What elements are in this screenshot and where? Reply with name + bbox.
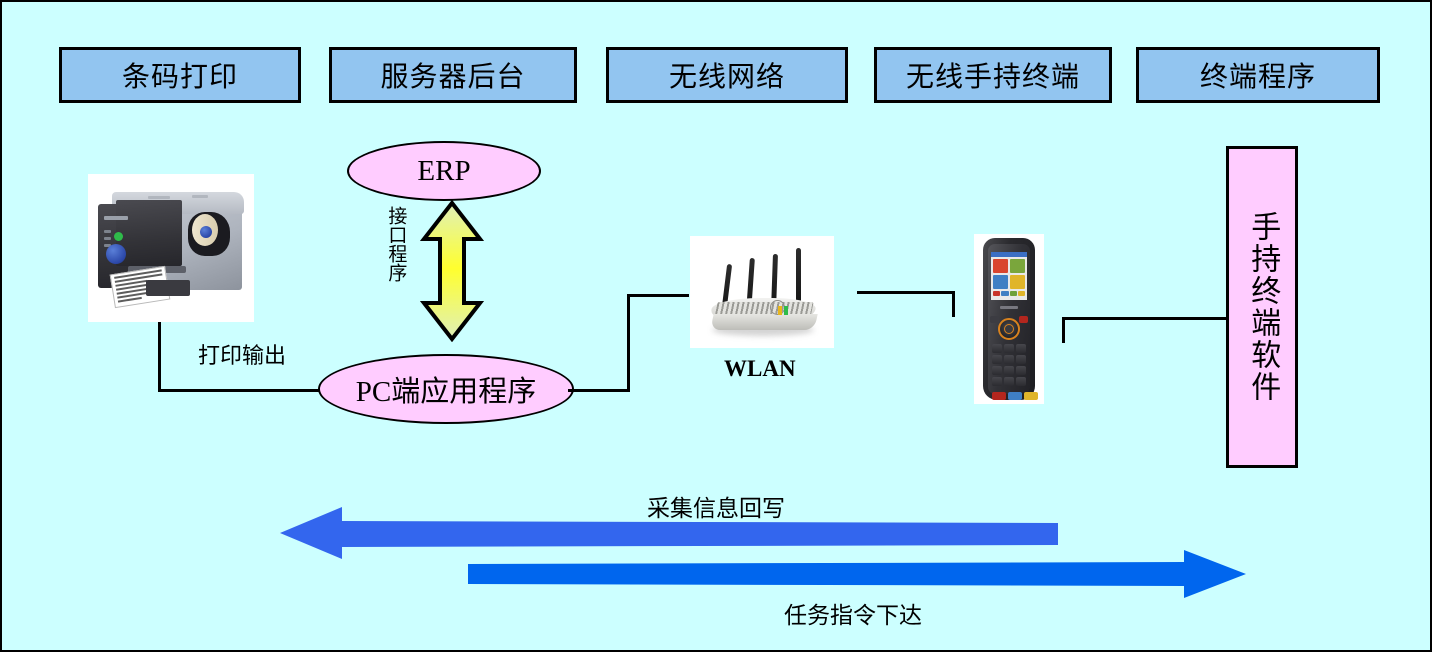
header-box-barcode-print: 条码打印 (59, 47, 301, 103)
connector-printer-vertical (158, 322, 161, 392)
print-output-label: 打印输出 (198, 338, 286, 370)
wlan-router-image (690, 236, 834, 348)
flow-label-task-dispatch: 任务指令下达 (784, 596, 922, 630)
connector-pda-right-riser (1062, 317, 1065, 343)
header-label: 终端程序 (1200, 55, 1316, 95)
header-box-server-backend: 服务器后台 (329, 47, 577, 103)
pc-application-label: PC端应用程序 (356, 368, 536, 410)
header-box-terminal-program: 终端程序 (1136, 47, 1380, 103)
header-label: 无线手持终端 (906, 55, 1080, 95)
pc-application-node[interactable]: PC端应用程序 (318, 354, 574, 424)
terminal-software-node[interactable]: 手持终端软件 (1226, 146, 1298, 468)
barcode-printer-image (88, 174, 254, 322)
connector-printer-horizontal (158, 389, 338, 392)
erp-label: ERP (417, 155, 470, 188)
interface-program-label: 接口程序 (384, 206, 406, 282)
interface-program-arrow-icon (420, 200, 484, 342)
diagram-canvas: 条码打印 服务器后台 无线网络 无线手持终端 终端程序 (0, 0, 1432, 652)
erp-node[interactable]: ERP (347, 141, 541, 201)
connector-router-left (627, 294, 689, 297)
connector-pcapp-vertical (627, 294, 630, 392)
flow-arrow-right-icon (468, 550, 1246, 598)
header-box-wireless-network: 无线网络 (606, 47, 848, 103)
header-label: 条码打印 (122, 55, 238, 95)
terminal-software-label: 手持终端软件 (1244, 211, 1281, 403)
connector-pda-left-drop (952, 291, 955, 317)
header-label: 服务器后台 (380, 55, 525, 95)
handheld-terminal-image (974, 234, 1044, 404)
connector-pcapp-horizontal (568, 389, 630, 392)
header-label: 无线网络 (669, 55, 785, 95)
header-box-wireless-handheld-terminal: 无线手持终端 (874, 47, 1112, 103)
connector-router-right (857, 291, 955, 294)
connector-terminal-software (1062, 317, 1227, 320)
wlan-label: WLAN (724, 356, 796, 382)
